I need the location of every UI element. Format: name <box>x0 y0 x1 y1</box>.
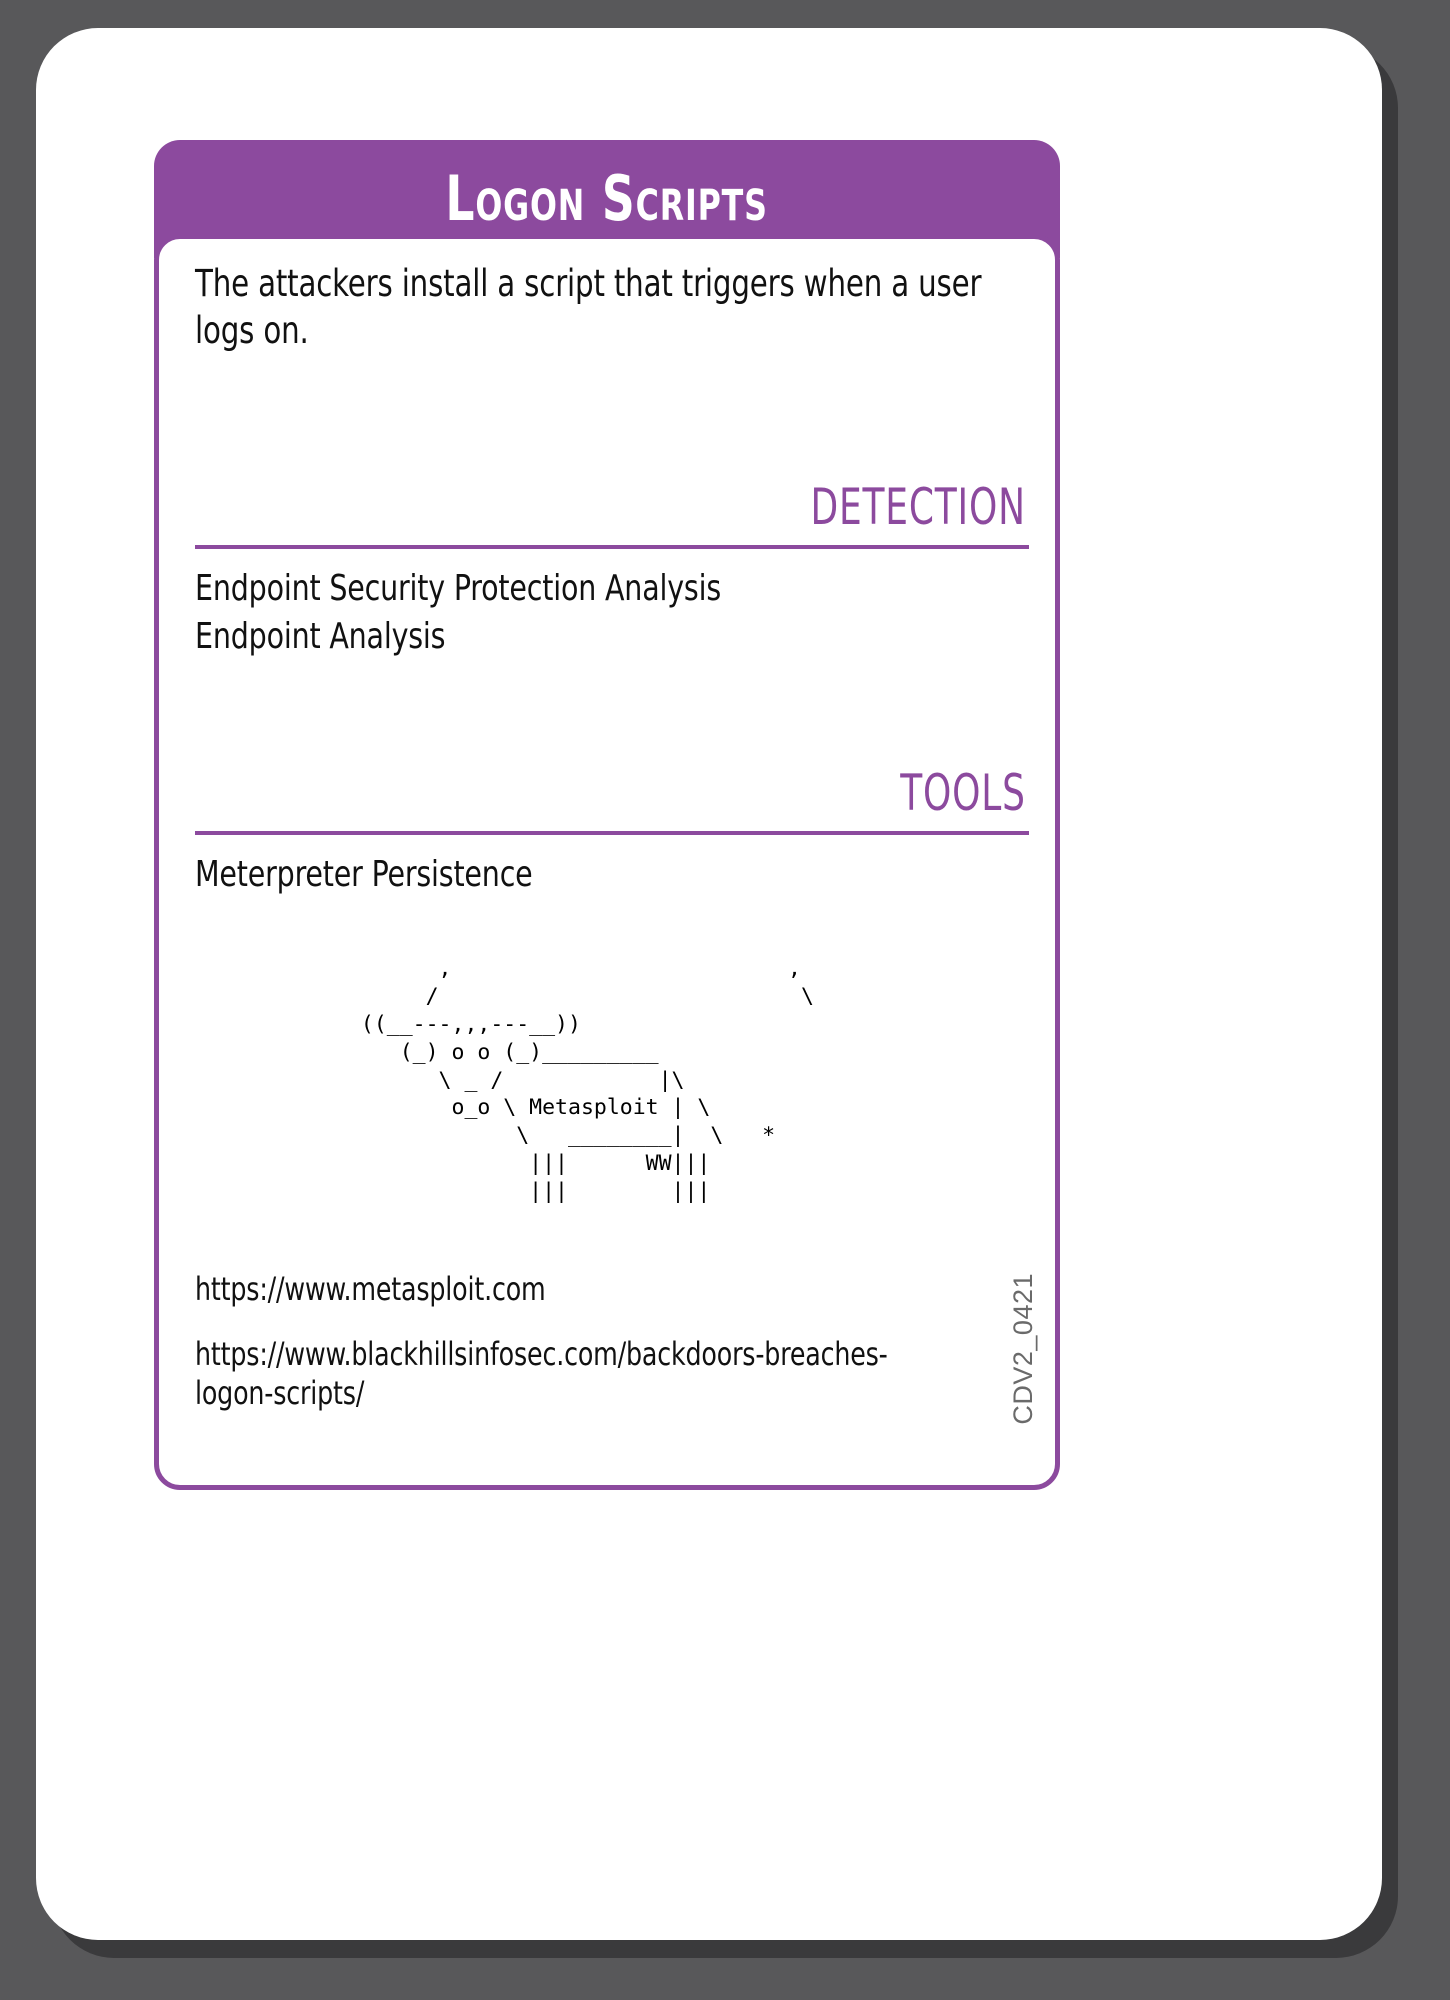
card-title: Logon Scripts <box>446 168 768 230</box>
card-description: The attackers install a script that trig… <box>195 261 988 354</box>
detection-heading: DETECTION <box>362 482 1029 532</box>
detection-divider <box>195 545 1029 549</box>
reference-link[interactable]: https://www.metasploit.com <box>195 1270 929 1309</box>
reference-link[interactable]: https://www.blackhillsinfosec.com/backdo… <box>195 1335 929 1413</box>
card-code-label: CDV2_0421 <box>1008 1273 1039 1425</box>
detection-item: Endpoint Analysis <box>195 613 929 661</box>
tools-item: Meterpreter Persistence <box>195 851 929 899</box>
tools-section: TOOLS Meterpreter Persistence <box>195 768 1029 899</box>
tools-heading: TOOLS <box>362 768 1029 818</box>
detection-list: Endpoint Security Protection Analysis En… <box>195 565 929 660</box>
tools-divider <box>195 831 1029 835</box>
detection-section: DETECTION Endpoint Security Protection A… <box>195 482 1029 660</box>
tools-list: Meterpreter Persistence <box>195 851 929 899</box>
card-content: The attackers install a script that trig… <box>195 261 1029 1413</box>
backdoors-and-breaches-card: Logon Scripts The attackers install a sc… <box>36 28 1382 1940</box>
metasploit-cow-ascii-art: , , / \ ((__---,,,---__)) (_) o o (_)___… <box>195 955 1029 1206</box>
card-body-panel: The attackers install a script that trig… <box>154 234 1060 1490</box>
detection-item: Endpoint Security Protection Analysis <box>195 565 929 613</box>
reference-links: https://www.metasploit.com https://www.b… <box>195 1270 1029 1413</box>
